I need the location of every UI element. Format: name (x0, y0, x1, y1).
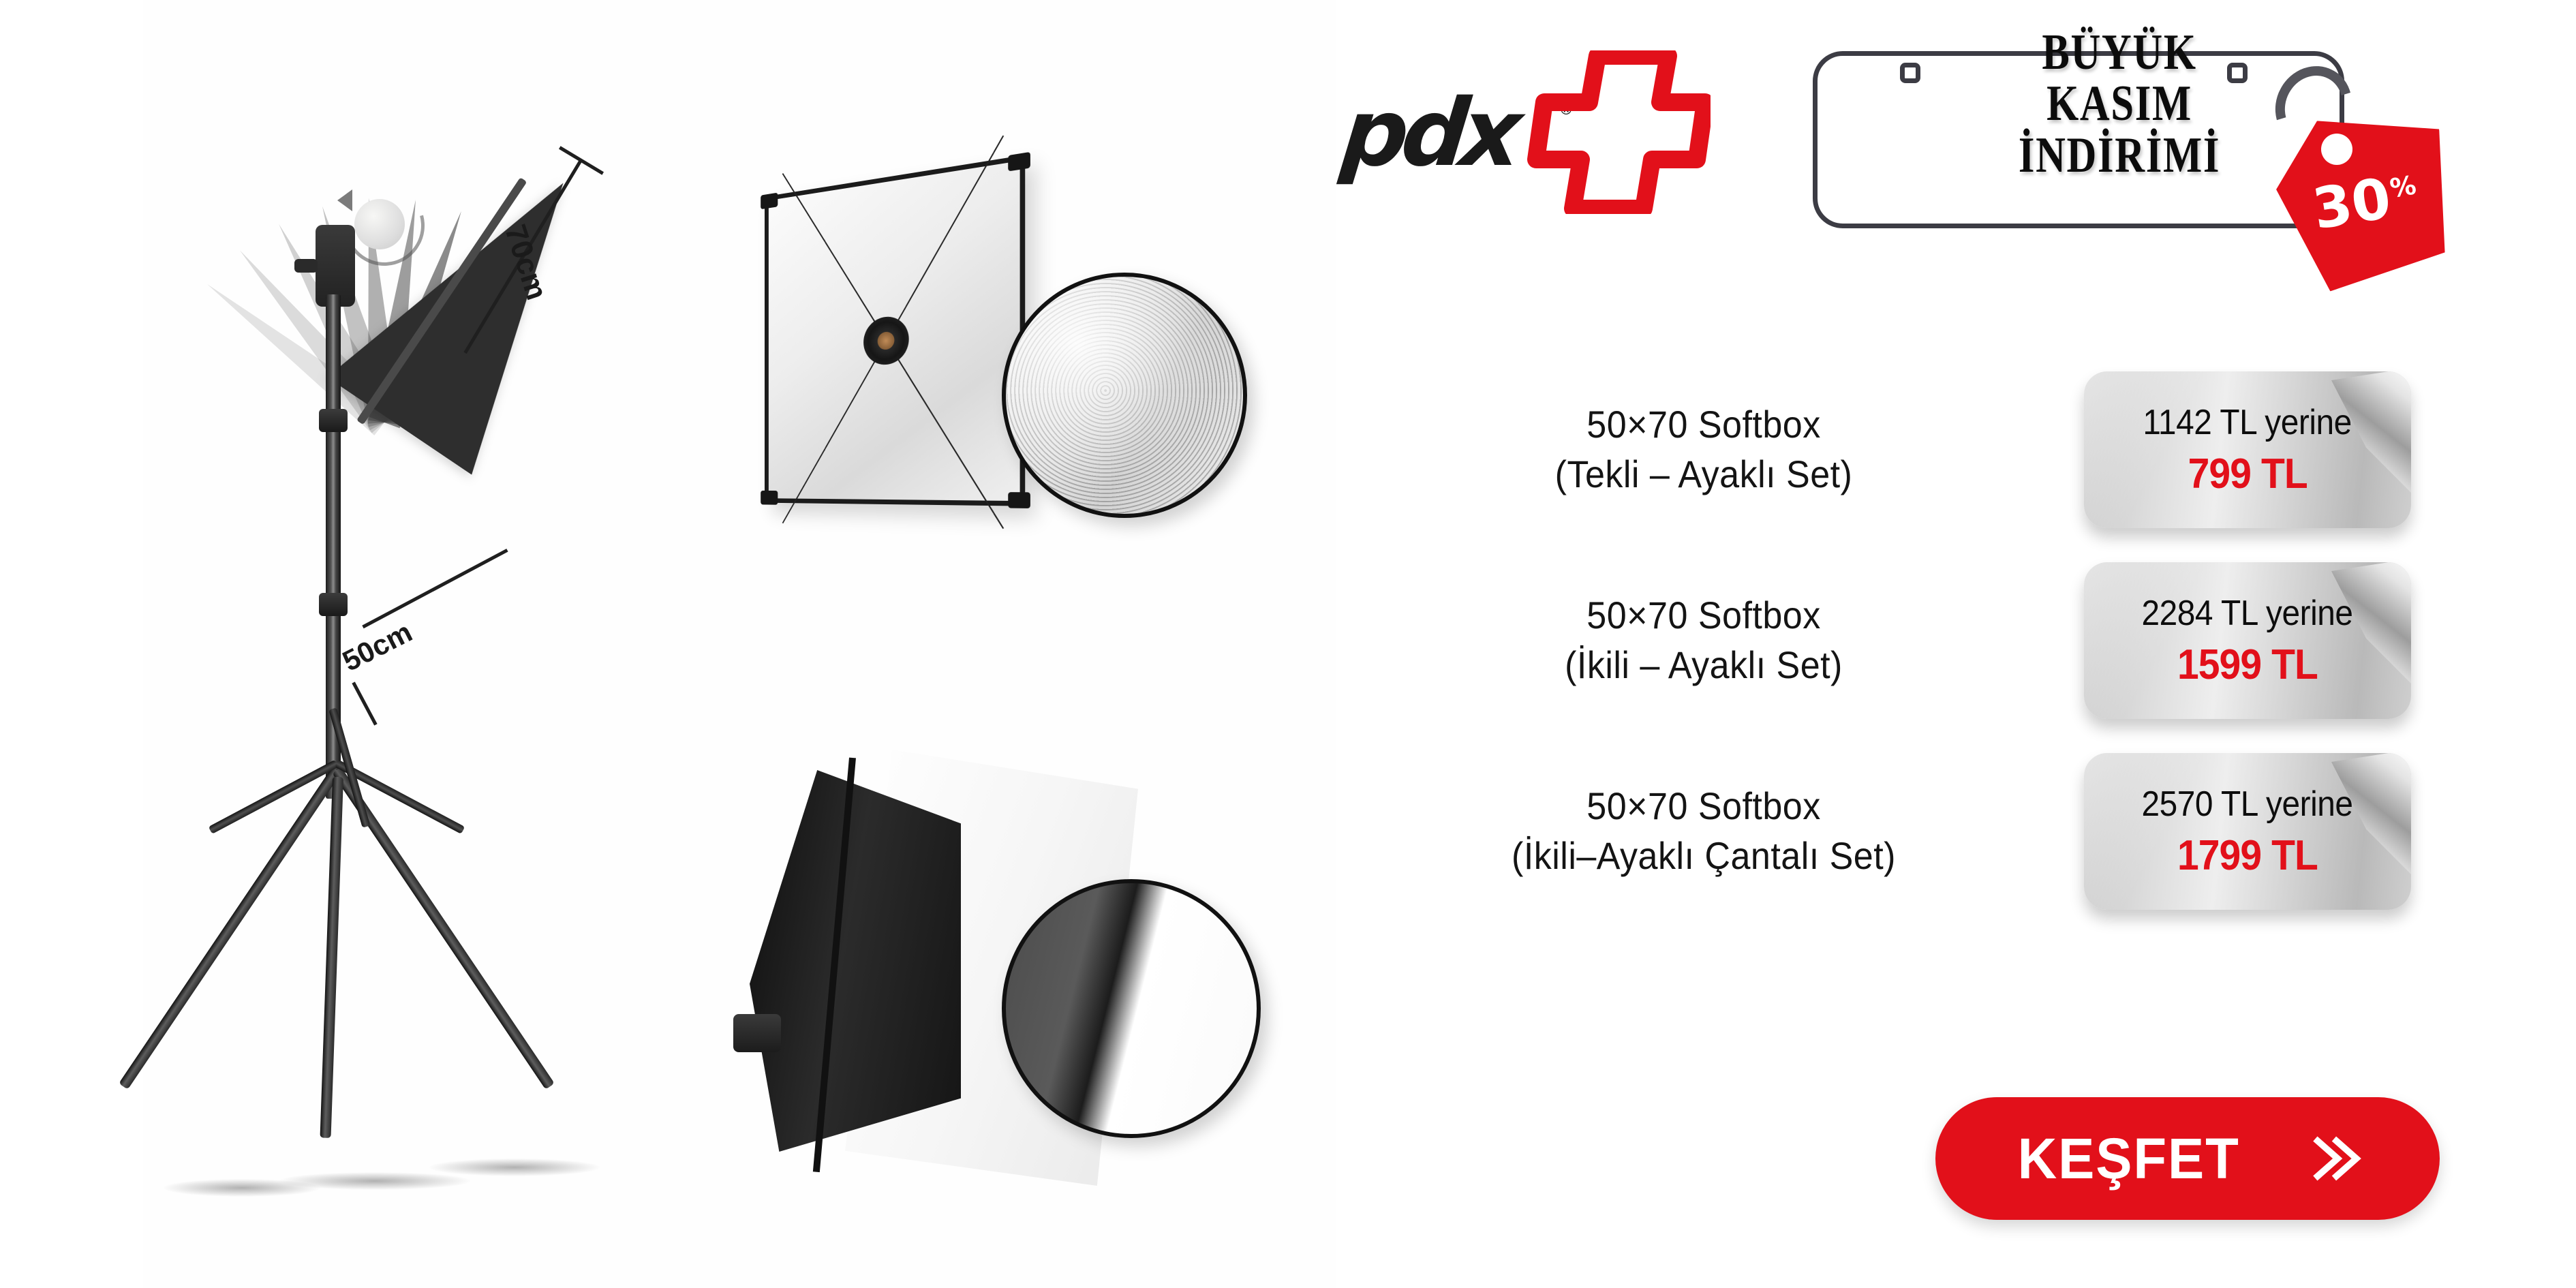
campaign-badge: BÜYÜK KASIM İNDİRİMİ 30% (1813, 20, 2576, 293)
price-sticker: 1142 TL yerine 799 TL (2084, 371, 2411, 528)
product-image-panel: 70cm 50cm (143, 0, 1336, 1288)
explore-button[interactable]: KEŞFET (1935, 1097, 2440, 1220)
offer-row[interactable]: 50×70 Softbox (İkili–Ayaklı Çantalı Set)… (1336, 736, 2576, 927)
softbox-mount-bracket (733, 1014, 781, 1052)
product-photo-softbox-on-stand: 70cm 50cm (143, 27, 702, 1254)
old-price: 2284 TL yerine (2142, 593, 2353, 634)
old-price: 1142 TL yerine (2143, 402, 2352, 443)
dimension-label-width: 50cm (337, 615, 418, 678)
offer-title-block: 50×70 Softbox (Tekli – Ayaklı Set) (1362, 400, 2046, 500)
campaign-line-3: İNDİRİMİ (1963, 130, 2275, 181)
offer-content-column: pdx ® BÜYÜK KASIM İNDİRİMİ (1336, 0, 2576, 1288)
dimension-cap (352, 681, 377, 725)
softbox-interior-body (765, 155, 1025, 506)
lamp-socket (878, 331, 895, 350)
old-price: 2570 TL yerine (2142, 784, 2353, 825)
offer-title: 50×70 Softbox (1362, 591, 2046, 641)
offer-title: 50×70 Softbox (1362, 400, 2046, 450)
price-sticker: 2570 TL yerine 1799 TL (2084, 753, 2411, 910)
offer-title: 50×70 Softbox (1362, 782, 2046, 831)
corner-bracket (761, 491, 778, 505)
product-photo-softbox-interior (709, 170, 1336, 647)
promotional-banner: 70cm 50cm (0, 0, 2576, 1288)
ground-shadow (429, 1159, 600, 1176)
softbox-outer-shell (750, 770, 961, 1152)
tag-hole (2321, 134, 2352, 165)
campaign-headline: BÜYÜK KASIM İNDİRİMİ (1963, 27, 2275, 181)
offer-variant: (Tekli – Ayaklı Set) (1362, 450, 2046, 500)
offer-row[interactable]: 50×70 Softbox (İkili – Ayaklı Set) 2284 … (1336, 545, 2576, 736)
dimension-cap (559, 146, 604, 174)
price-sticker: 2284 TL yerine 1599 TL (2084, 562, 2411, 719)
support-rod (886, 136, 1004, 341)
support-rod (886, 340, 1004, 529)
offer-title-block: 50×70 Softbox (İkili – Ayaklı Set) (1362, 591, 2046, 690)
corner-bracket (761, 193, 778, 210)
rotation-arrow-head-icon (337, 189, 352, 211)
new-price: 799 TL (2188, 450, 2307, 498)
new-price: 1799 TL (2177, 831, 2318, 880)
support-rod (782, 340, 887, 523)
offer-title-block: 50×70 Softbox (İkili–Ayaklı Çantalı Set) (1362, 782, 2046, 881)
dimension-line-width (362, 549, 508, 628)
double-chevron-right-icon (2305, 1129, 2363, 1188)
new-price: 1599 TL (2177, 641, 2318, 689)
center-hub (863, 315, 909, 366)
lamp-bulb (354, 199, 405, 249)
ground-shadow (279, 1172, 470, 1190)
medical-cross-icon (1527, 50, 1711, 214)
offer-variant: (İkili–Ayaklı Çantalı Set) (1362, 831, 2046, 881)
discount-number: 30 (2308, 166, 2395, 243)
corner-bracket (1008, 492, 1030, 508)
offer-list: 50×70 Softbox (Tekli – Ayaklı Set) 1142 … (1336, 354, 2576, 927)
tilt-knob (294, 259, 318, 273)
pole-collar (319, 593, 348, 616)
fabric-detail-magnifier (1002, 273, 1247, 518)
frame-notch-left-icon (1900, 63, 1920, 83)
pole-collar (319, 409, 348, 432)
offer-row[interactable]: 50×70 Softbox (Tekli – Ayaklı Set) 1142 … (1336, 354, 2576, 545)
campaign-line-1: BÜYÜK (1963, 27, 2275, 78)
brand-logo[interactable]: pdx ® (1336, 48, 1745, 211)
percent-symbol: % (2388, 170, 2418, 203)
explore-button-label: KEŞFET (2018, 1126, 2240, 1192)
tripod-leg (320, 777, 343, 1138)
support-rod (782, 173, 887, 341)
brand-wordmark: pdx (1338, 87, 1520, 180)
offer-variant: (İkili – Ayaklı Set) (1362, 641, 2046, 690)
corner-bracket (1008, 152, 1030, 172)
seam-detail-magnifier (1002, 879, 1261, 1138)
product-photo-softbox-angled (729, 743, 1356, 1233)
campaign-line-2: KASIM (1963, 78, 2275, 129)
discount-tag: 30% (2256, 48, 2481, 279)
